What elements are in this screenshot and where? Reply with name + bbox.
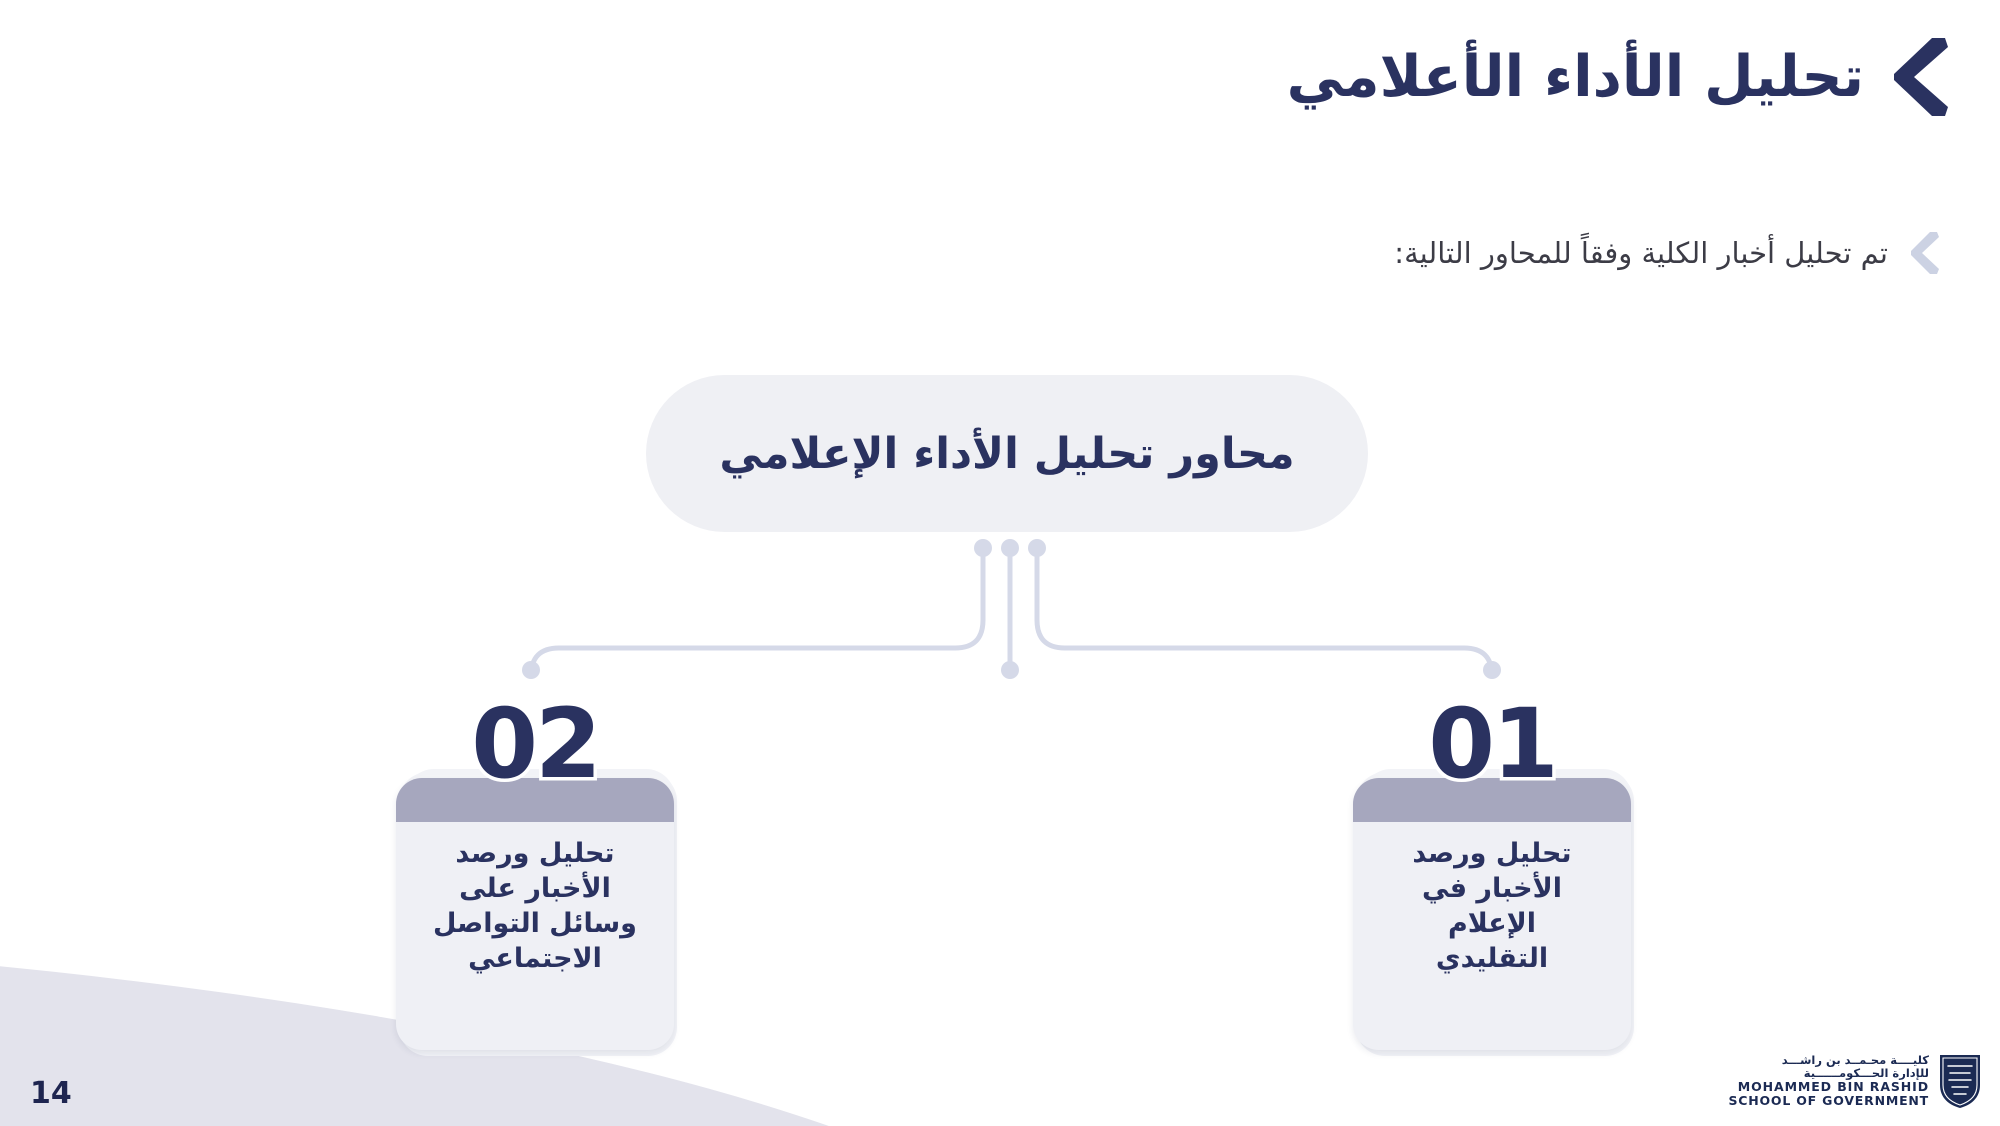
slide-subheader: تم تحليل أخبار الكلية وفقاً للمحاور التا… [1394, 230, 1940, 276]
slide: تحليل الأداء الأعلامي تم تحليل أخبار الك… [0, 0, 2000, 1126]
page-number: 14 [30, 1076, 72, 1111]
logo-english-line-2: SCHOOL OF GOVERNMENT [1728, 1094, 1929, 1108]
shield-crest-icon [1938, 1052, 1982, 1110]
card-body-01: تحليل ورصد الأخبار في الإعلام التقليدي [1353, 778, 1631, 1050]
card-label-02: تحليل ورصد الأخبار على وسائل التواصل الا… [396, 836, 674, 976]
chevron-left-icon-small [1910, 230, 1940, 276]
card-number-02: 02 [396, 696, 674, 792]
logo-arabic-line-2: للإدارة الحـــكومــــــية [1804, 1067, 1929, 1080]
logo-wordmark: كليــــة محـمــد بن راشـــد للإدارة الحـ… [1728, 1054, 1929, 1108]
card-label-01: تحليل ورصد الأخبار في الإعلام التقليدي [1353, 836, 1631, 976]
diagram-connectors [0, 0, 2000, 1126]
slide-header: تحليل الأداء الأعلامي [1287, 34, 1952, 120]
diagram-node-02[interactable]: تحليل ورصد الأخبار على وسائل التواصل الا… [396, 778, 674, 1050]
organization-logo: كليــــة محـمــد بن راشـــد للإدارة الحـ… [1728, 1052, 1982, 1110]
logo-english-line-1: MOHAMMED BIN RASHID [1738, 1080, 1929, 1094]
diagram-node-01[interactable]: تحليل ورصد الأخبار في الإعلام التقليدي 0… [1353, 778, 1631, 1050]
card-body-02: تحليل ورصد الأخبار على وسائل التواصل الا… [396, 778, 674, 1050]
page-title: تحليل الأداء الأعلامي [1287, 46, 1864, 109]
diagram-root-node: محاور تحليل الأداء الإعلامي [646, 375, 1368, 532]
card-number-01: 01 [1353, 696, 1631, 792]
subtitle-text: تم تحليل أخبار الكلية وفقاً للمحاور التا… [1394, 236, 1888, 270]
diagram-root-label: محاور تحليل الأداء الإعلامي [719, 429, 1294, 479]
chevron-left-icon [1890, 34, 1952, 120]
